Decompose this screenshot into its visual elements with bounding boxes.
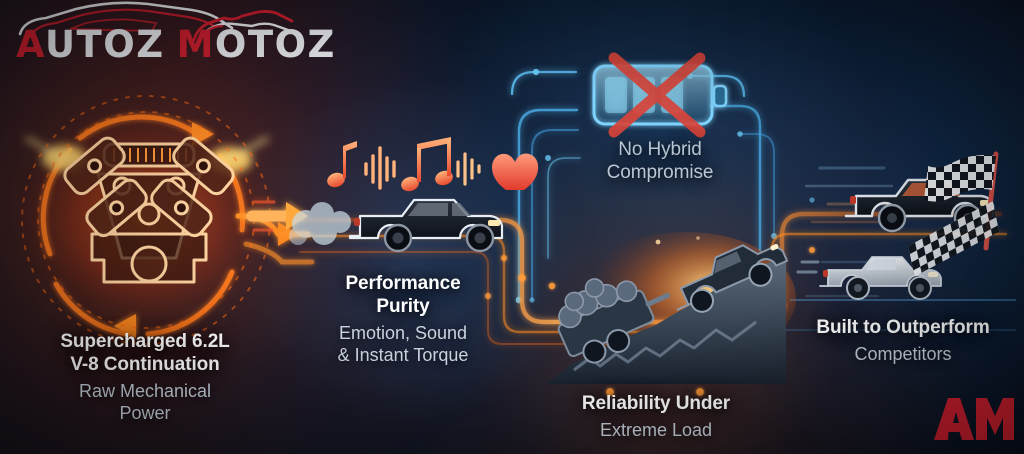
battery-crossed-out-icon [588,54,738,142]
performance-subtitle-line1: Emotion, Sound [294,323,512,345]
logo-letter-a: A [16,23,45,66]
am-monogram-logo[interactable] [932,396,1008,442]
caption-reliability: Reliability Under Extreme Load [540,392,772,442]
hybrid-title-line1: No Hybrid [560,138,760,161]
exhaust-smoke-icon [289,202,351,245]
engine-title-line1: Supercharged 6.2L [14,330,276,353]
caption-engine: Supercharged 6.2L V-8 Continuation Raw M… [14,330,276,425]
truck-towing-loaded-trailer-uphill-icon [546,232,786,384]
logo-wordmark: AUTOZMOTOZ [16,26,336,63]
performance-title-line2: Purity [294,295,512,318]
music-note-icon [325,141,357,189]
logo-word-motoz: OTOZ [215,23,336,66]
engine-subtitle-line1: Raw Mechanical [14,381,276,403]
pickup-truck-icon [292,186,512,260]
sound-wave-icon [458,154,479,184]
outperform-title: Built to Outperform [790,316,1016,339]
outperform-subtitle: Competitors [790,344,1016,366]
reliability-subtitle: Extreme Load [540,420,772,442]
reliability-title: Reliability Under [540,392,772,415]
caption-performance: Performance Purity Emotion, Sound & Inst… [294,272,512,367]
music-note-icon [399,137,454,193]
performance-title-line1: Performance [294,272,512,295]
infographic-canvas: AUTOZMOTOZ [0,0,1024,454]
performance-subtitle-line2: & Instant Torque [294,345,512,367]
logo-word-autoz: UTOZ [45,23,165,66]
race-trucks-checkered-flag-icon [800,140,1024,320]
engine-title-line2: V-8 Continuation [14,353,276,376]
caption-no-hybrid: No Hybrid Compromise [560,138,760,184]
hybrid-title-line2: Compromise [560,161,760,184]
engine-subtitle-line2: Power [14,403,276,425]
sound-wave-icon [366,148,394,188]
caption-outperform: Built to Outperform Competitors [790,316,1016,366]
brand-logo[interactable]: AUTOZMOTOZ [8,4,308,66]
logo-letter-m: M [177,23,215,66]
